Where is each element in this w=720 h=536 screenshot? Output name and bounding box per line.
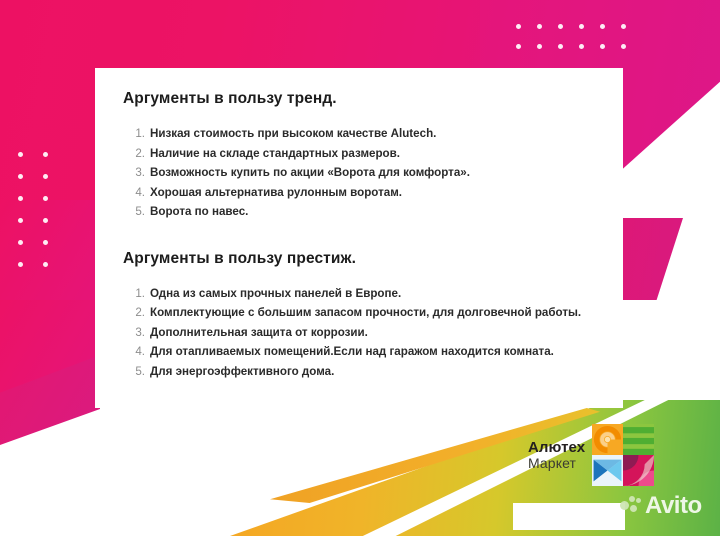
list-item: 5. Ворота по навес. [131,202,597,222]
decor-dot [516,44,521,49]
decor-dot [43,240,48,245]
decor-dot [558,44,563,49]
magenta-petals-tile [623,455,654,486]
list-item-text: Хорошая альтернатива рулонным воротам. [150,183,402,203]
section-1-title: Аргументы в пользу тренд. [123,90,597,108]
decor-dot [621,24,626,29]
list-item-number: 1. [131,284,145,304]
blue-x-tile [592,455,623,486]
decor-dot [579,24,584,29]
decor-dot [621,44,626,49]
list-item: 4. Для отапливаемых помещений.Если над г… [131,342,597,362]
decor-dot [43,152,48,157]
slide-canvas: Аргументы в пользу тренд. 1. Низкая стои… [0,0,720,536]
decor-dot [600,24,605,29]
list-item-number: 5. [131,202,145,222]
empty-white-box [513,503,625,530]
content-card: Аргументы в пользу тренд. 1. Низкая стои… [95,68,623,408]
list-item-number: 5. [131,362,145,382]
dot-grid-left [18,152,68,284]
decor-dot [18,196,23,201]
list-item: 2. Комплектующие с большим запасом прочн… [131,303,597,323]
decor-dot [18,174,23,179]
green-stripes-tile [623,424,654,455]
brand-logo-text: Алютех Маркет [528,440,585,470]
section-2-title: Аргументы в пользу престиж. [123,250,597,268]
section-1-list: 1. Низкая стоимость при высоком качестве… [131,124,597,222]
list-item-text: Комплектующие с большим запасом прочност… [150,303,581,323]
decor-dot [43,262,48,267]
list-item-text: Возможность купить по акции «Ворота для … [150,163,470,183]
avito-watermark: Avito [620,492,702,520]
decor-dot [43,174,48,179]
brand-name-line1: Алютех [528,440,585,455]
list-item: 3. Возможность купить по акции «Ворота д… [131,163,597,183]
section-2-list: 1. Одна из самых прочных панелей в Европ… [131,284,597,382]
list-item: 5. Для энергоэффективного дома. [131,362,597,382]
avito-wordmark: Avito [645,492,702,520]
decor-dot [537,44,542,49]
list-item-text: Для энергоэффективного дома. [150,362,334,382]
list-item-number: 3. [131,163,145,183]
brand-logo: Алютех Маркет [528,424,654,486]
decor-dot [18,152,23,157]
decor-dot [600,44,605,49]
list-item-number: 2. [131,303,145,323]
list-item-number: 3. [131,323,145,343]
brand-name-line2: Маркет [528,456,585,470]
dot-grid-top [516,24,642,64]
list-item-text: Для отапливаемых помещений.Если над гара… [150,342,554,362]
decor-dot [558,24,563,29]
decor-dot [18,262,23,267]
avito-dots-icon [620,496,642,516]
decor-dot [43,196,48,201]
list-item: 4. Хорошая альтернатива рулонным воротам… [131,183,597,203]
decor-dot [516,24,521,29]
list-item-number: 4. [131,342,145,362]
alutech-market-logo-icon [592,424,654,486]
decor-dot [18,240,23,245]
list-item: 2. Наличие на складе стандартных размеро… [131,144,597,164]
list-item-text: Низкая стоимость при высоком качестве Al… [150,124,436,144]
list-item-text: Одна из самых прочных панелей в Европе. [150,284,401,304]
list-item: 1. Одна из самых прочных панелей в Европ… [131,284,597,304]
list-item: 1. Низкая стоимость при высоком качестве… [131,124,597,144]
list-item: 3. Дополнительная защита от коррозии. [131,323,597,343]
list-item-number: 2. [131,144,145,164]
section-spacer [123,222,597,250]
list-item-text: Наличие на складе стандартных размеров. [150,144,400,164]
orange-spiral-tile [592,424,623,455]
decor-dot [18,218,23,223]
list-item-number: 1. [131,124,145,144]
decor-dot [537,24,542,29]
decor-dot [43,218,48,223]
list-item-text: Дополнительная защита от коррозии. [150,323,368,343]
decor-dot [579,44,584,49]
list-item-number: 4. [131,183,145,203]
list-item-text: Ворота по навес. [150,202,248,222]
